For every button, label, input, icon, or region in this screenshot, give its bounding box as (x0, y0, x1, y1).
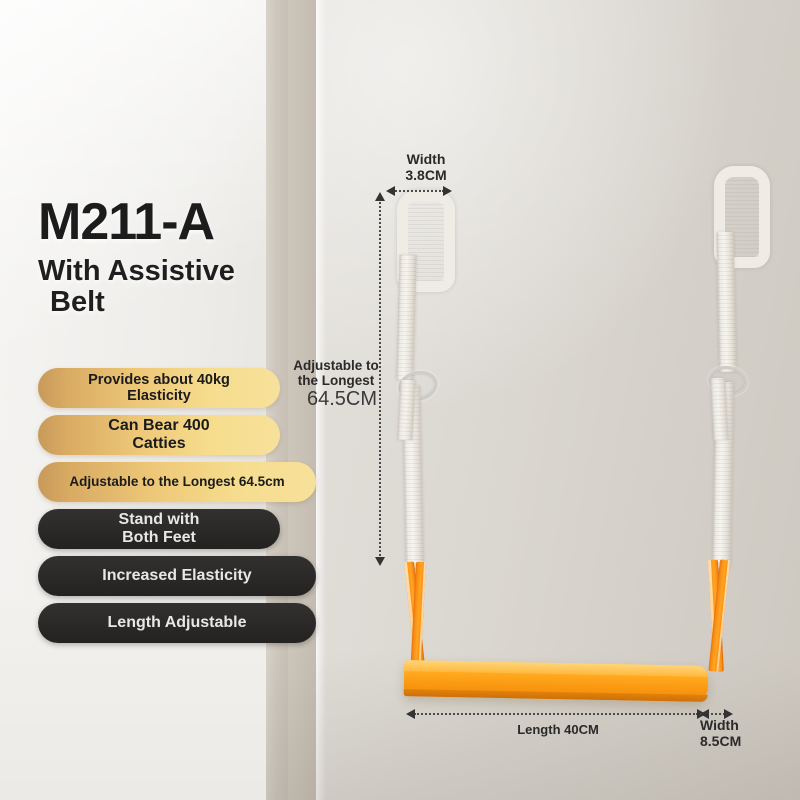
right-strap-upper (717, 232, 737, 372)
arrow-up-icon-adjustable-length (375, 192, 385, 201)
feature-badge-length-adjustable: Length Adjustable (38, 603, 316, 643)
strap-width-label: Width 3.8CM (378, 152, 474, 183)
right-strap-upper-texture (717, 232, 737, 372)
adjustable-length-value: 64.5CM (296, 388, 388, 410)
footboard-top-highlight (404, 660, 708, 677)
feature-badge-adjustable-length-text: Adjustable to the Longest 64.5cm (69, 474, 284, 489)
left-strap-upper-texture (396, 255, 416, 380)
arrow-left-icon-strap-width (386, 186, 395, 196)
feature-badge-load-capacity-line1: Can Bear 400 (108, 417, 209, 434)
headline-block: M211-A With Assistive Belt (38, 196, 338, 319)
feature-badge-increased-elasticity-text: Increased Elasticity (102, 567, 251, 585)
feature-badge-elasticity-text: Provides about 40kg Elasticity (88, 372, 230, 404)
feature-badge-stand-both-feet-line1: Stand with (119, 511, 200, 528)
board-width-value: 8.5CM (700, 733, 741, 749)
feature-badge-list: Provides about 40kg Elasticity Can Bear … (38, 368, 318, 650)
product-image-canvas: M211-A With Assistive Belt Provides abou… (0, 0, 800, 800)
feature-badge-load-capacity-text: Can Bear 400 Catties (108, 417, 209, 453)
product-subtitle-line1: With Assistive (38, 255, 235, 287)
product-subtitle-line2: Belt (38, 287, 338, 318)
page-title: M211-A (38, 196, 338, 248)
feature-badge-load-capacity: Can Bear 400 Catties (38, 415, 280, 455)
adjustable-length-label: Adjustable to the Longest (284, 358, 388, 388)
board-length-label: Length 40CM (488, 723, 628, 738)
feature-badge-elasticity: Provides about 40kg Elasticity (38, 368, 280, 408)
feature-badge-stand-both-feet: Stand with Both Feet (38, 509, 280, 549)
arrow-left-icon-board-length (406, 709, 415, 719)
feature-badge-elasticity-line2: Elasticity (127, 388, 191, 404)
right-strap-tail-texture (710, 378, 728, 441)
feature-badge-elasticity-line1: Provides about 40kg (88, 372, 230, 388)
feature-badge-load-capacity-line2: Catties (132, 435, 185, 452)
board-width-label: Width 8.5CM (700, 718, 796, 749)
feature-badge-length-adjustable-text: Length Adjustable (108, 614, 247, 632)
feature-badge-stand-both-feet-text: Stand with Both Feet (38, 511, 280, 547)
board-width-title: Width (700, 717, 739, 733)
feature-badge-adjustable-length: Adjustable to the Longest 64.5cm (38, 462, 316, 502)
left-strap-tail (397, 380, 415, 441)
left-strap-upper (396, 255, 416, 380)
adjustable-length-dimension-line (379, 199, 381, 559)
board-length-dimension-line (414, 713, 698, 715)
arrow-right-icon-strap-width (443, 186, 452, 196)
footboard-bottom-edge (404, 689, 708, 702)
orange-footboard (404, 660, 709, 702)
strap-width-dimension-line (392, 190, 444, 192)
right-strap-tail (710, 378, 728, 441)
left-strap-tail-texture (397, 380, 415, 441)
arrow-down-icon-adjustable-length (375, 557, 385, 566)
strap-width-value: 3.8CM (405, 167, 446, 183)
feature-badge-stand-both-feet-line2: Both Feet (122, 529, 196, 546)
product-subtitle: With Assistive Belt (38, 256, 338, 319)
feature-badge-increased-elasticity: Increased Elasticity (38, 556, 316, 596)
adjustable-length-title-line1: Adjustable to (293, 358, 379, 373)
strap-width-title: Width (407, 151, 446, 167)
adjustable-length-title-line2: the Longest (298, 373, 375, 388)
